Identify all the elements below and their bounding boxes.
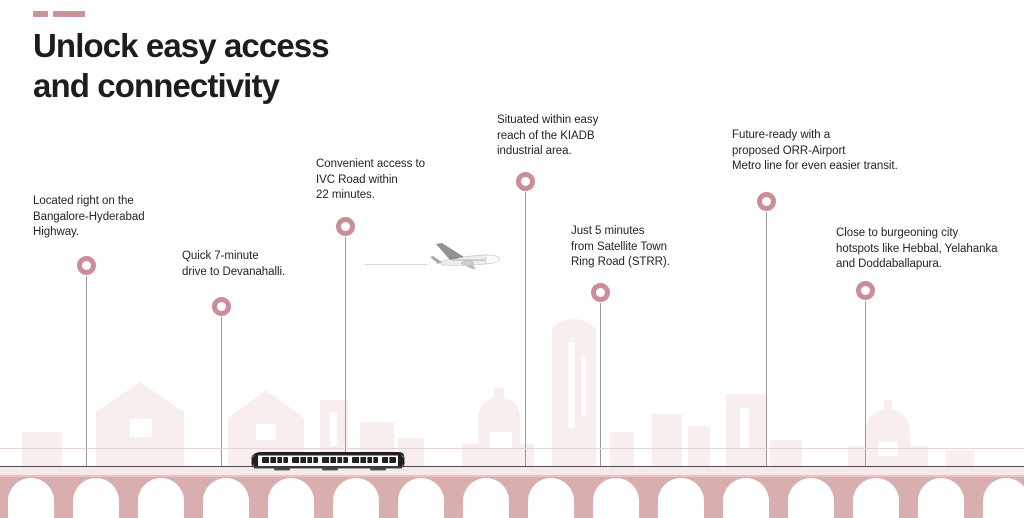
callout-city-hotspots: Close to burgeoning city hotspots like H… xyxy=(836,226,1024,273)
map-marker-ring-1[interactable] xyxy=(77,256,96,275)
accent-dash-long xyxy=(53,11,85,17)
connector-line-3 xyxy=(345,237,346,468)
callout-kiadb-industrial-area: Situated within easy reach of the KIADB … xyxy=(497,113,657,160)
callout-text: Future-ready with a proposed ORR-Airport… xyxy=(732,128,932,175)
map-marker-ring-4[interactable] xyxy=(516,172,535,191)
callout-text: Convenient access to IVC Road within 22 … xyxy=(316,157,476,204)
connector-line-2 xyxy=(221,317,222,468)
callout-text: Close to burgeoning city hotspots like H… xyxy=(836,226,1024,273)
heading-block: Unlock easy access and connectivity xyxy=(33,10,453,106)
infographic-canvas: Unlock easy access and connectivity xyxy=(0,0,1024,518)
connector-line-6 xyxy=(766,212,767,468)
accent-dash-short xyxy=(33,11,48,17)
track-line xyxy=(0,448,1024,449)
callout-ivc-road-access: Convenient access to IVC Road within 22 … xyxy=(316,157,476,204)
contrail-line xyxy=(365,264,427,265)
callout-devanahalli-drive: Quick 7-minute drive to Devanahalli. xyxy=(182,249,342,280)
callout-bangalore-hyderabad-highway: Located right on the Bangalore-Hyderabad… xyxy=(33,194,183,241)
map-marker-ring-3[interactable] xyxy=(336,217,355,236)
page-title: Unlock easy access and connectivity xyxy=(33,26,453,106)
map-marker-ring-5[interactable] xyxy=(591,283,610,302)
viaduct-bridge xyxy=(0,467,1024,518)
airplane-icon xyxy=(420,238,506,272)
accent-dashes xyxy=(33,10,453,17)
map-marker-ring-6[interactable] xyxy=(757,192,776,211)
connector-line-5 xyxy=(600,303,601,468)
callout-text: Situated within easy reach of the KIADB … xyxy=(497,113,657,160)
callout-text: Just 5 minutes from Satellite Town Ring … xyxy=(571,224,731,271)
map-marker-ring-7[interactable] xyxy=(856,281,875,300)
callout-text: Located right on the Bangalore-Hyderabad… xyxy=(33,194,183,241)
callout-text: Quick 7-minute drive to Devanahalli. xyxy=(182,249,342,280)
callout-orr-airport-metro: Future-ready with a proposed ORR-Airport… xyxy=(732,128,932,175)
connector-line-4 xyxy=(525,192,526,468)
metro-train-icon xyxy=(248,450,408,472)
map-marker-ring-2[interactable] xyxy=(212,297,231,316)
connector-line-1 xyxy=(86,276,87,468)
callout-satellite-town-ring-road: Just 5 minutes from Satellite Town Ring … xyxy=(571,224,731,271)
connector-line-7 xyxy=(865,301,866,468)
